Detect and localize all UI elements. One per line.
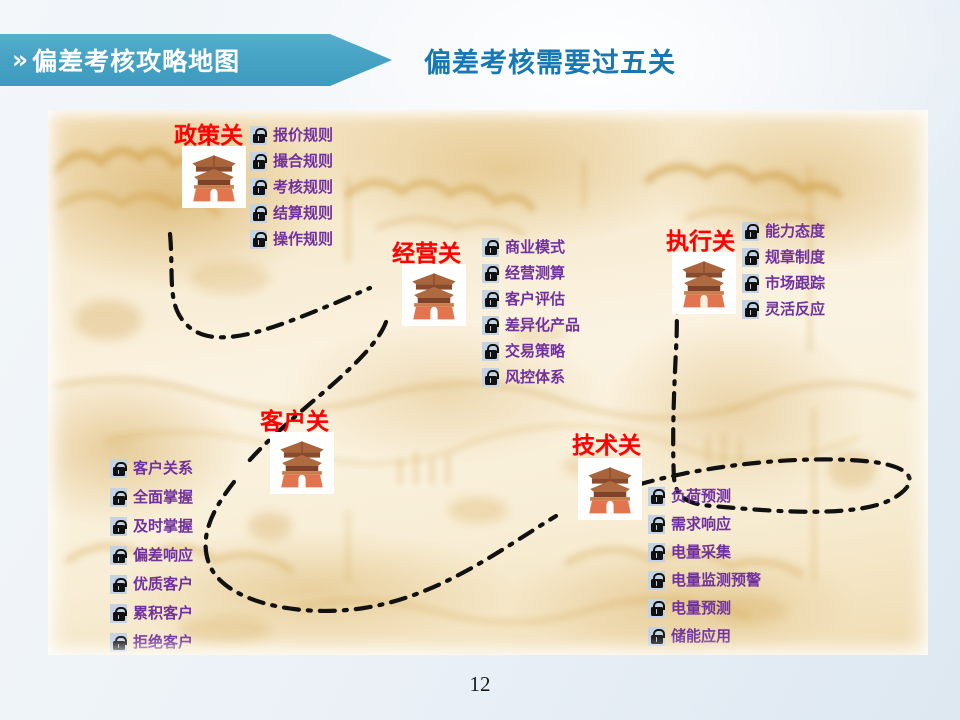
page-title: 偏差考核需要过五关 xyxy=(424,34,676,86)
gate-group-technology: 技术关 负荷预测 需求响应 xyxy=(528,426,808,655)
lock-icon xyxy=(482,342,499,361)
gate-item[interactable]: 报价规则 xyxy=(250,122,333,148)
gate-items-execution: 能力态度 规章制度 市场跟踪 灵活反应 xyxy=(742,218,825,322)
gate-item-label: 考核规则 xyxy=(273,180,333,195)
lock-icon xyxy=(742,274,759,293)
gate-item[interactable]: 规章制度 xyxy=(742,244,825,270)
lock-icon xyxy=(250,178,267,197)
gate-item[interactable]: 全面掌握 xyxy=(110,483,193,512)
gate-item[interactable]: 撮合规则 xyxy=(250,148,333,174)
gate-item-label: 风控体系 xyxy=(505,370,565,385)
lock-icon xyxy=(648,599,665,618)
lock-icon xyxy=(742,300,759,319)
gate-group-customer: 客户关 客户关系 全面掌握 xyxy=(110,398,370,646)
gate-item[interactable]: 客户评估 xyxy=(482,286,580,312)
gate-item-label: 客户关系 xyxy=(133,461,193,476)
gate-item-label: 电量预测 xyxy=(671,601,731,616)
gate-item-label: 交易策略 xyxy=(505,344,565,359)
lock-icon xyxy=(250,126,267,145)
gate-group-execution: 执行关 能力态度 规章制度 xyxy=(656,212,916,352)
gate-item[interactable]: 交易策略 xyxy=(482,338,580,364)
gate-item-label: 客户评估 xyxy=(505,292,565,307)
gate-item[interactable]: 优质客户 xyxy=(110,570,193,599)
chinese-gate-tower-icon xyxy=(182,146,246,208)
gate-item[interactable]: 灵活反应 xyxy=(742,296,825,322)
gate-item-label: 灵活反应 xyxy=(765,302,825,317)
lock-icon xyxy=(110,488,127,507)
gate-title-policy: 政策关 xyxy=(174,116,243,150)
gate-item-label: 结算规则 xyxy=(273,206,333,221)
page-number: 12 xyxy=(0,672,960,697)
lock-icon xyxy=(482,368,499,387)
gate-group-operation: 经营关 商业模式 经营测算 xyxy=(340,234,620,414)
gate-item[interactable]: 结算规则 xyxy=(250,200,333,226)
gate-item[interactable]: 需求响应 xyxy=(648,510,761,538)
gate-item[interactable]: 负荷预测 xyxy=(648,482,761,510)
gate-items-operation: 商业模式 经营测算 客户评估 差异化产品 交易策略 风控体系 xyxy=(482,234,580,390)
gate-item-label: 全面掌握 xyxy=(133,490,193,505)
lock-icon xyxy=(110,604,127,623)
gate-item[interactable]: 客户关系 xyxy=(110,454,193,483)
gate-item-label: 电量监测预警 xyxy=(671,573,761,588)
gate-title-operation: 经营关 xyxy=(392,234,461,268)
gate-title-customer: 客户关 xyxy=(260,402,329,436)
gate-item-label: 优质客户 xyxy=(133,577,193,592)
gate-item[interactable]: 商业模式 xyxy=(482,234,580,260)
gate-item-label: 累积客户 xyxy=(133,606,193,621)
lock-icon xyxy=(110,633,127,652)
lock-icon xyxy=(648,515,665,534)
lock-icon xyxy=(250,152,267,171)
gate-item[interactable]: 能力态度 xyxy=(742,218,825,244)
gate-items-policy: 报价规则 撮合规则 考核规则 结算规则 操作规则 xyxy=(250,122,333,252)
gate-item[interactable]: 考核规则 xyxy=(250,174,333,200)
gate-item[interactable]: 市场跟踪 xyxy=(742,270,825,296)
gate-item[interactable]: 电量监测预警 xyxy=(648,566,761,594)
gate-item-label: 撮合规则 xyxy=(273,154,333,169)
lock-icon xyxy=(482,316,499,335)
gate-item-label: 操作规则 xyxy=(273,232,333,247)
gate-items-customer: 客户关系 全面掌握 及时掌握 偏差响应 优质客户 累积客户 xyxy=(110,454,193,655)
gate-item[interactable]: 电量预测 xyxy=(648,594,761,622)
gate-item-label: 能力态度 xyxy=(765,224,825,239)
gate-item[interactable]: 拒绝客户 xyxy=(110,628,193,655)
gate-item-label: 负荷预测 xyxy=(671,489,731,504)
gate-item-label: 偏差响应 xyxy=(133,548,193,563)
gate-item-label: 商业模式 xyxy=(505,240,565,255)
lock-icon xyxy=(250,204,267,223)
lock-icon xyxy=(648,571,665,590)
gate-item[interactable]: 经营测算 xyxy=(482,260,580,286)
lock-icon xyxy=(250,230,267,249)
lock-icon xyxy=(482,290,499,309)
banner-title: 偏差考核攻略地图 xyxy=(32,42,240,78)
chinese-gate-tower-icon xyxy=(402,264,466,326)
lock-icon xyxy=(742,222,759,241)
gate-item-label: 及时掌握 xyxy=(133,519,193,534)
gate-item[interactable]: 操作规则 xyxy=(250,226,333,252)
lock-icon xyxy=(482,238,499,257)
gate-item-label: 需求响应 xyxy=(671,517,731,532)
gate-item[interactable]: 支撑工具 xyxy=(648,650,761,655)
gate-item[interactable]: 差异化产品 xyxy=(482,312,580,338)
gate-item-label: 拒绝客户 xyxy=(133,635,193,650)
gate-item-label: 规章制度 xyxy=(765,250,825,265)
gate-item-label: 差异化产品 xyxy=(505,318,580,333)
gate-item[interactable]: 累积客户 xyxy=(110,599,193,628)
chinese-gate-tower-icon xyxy=(270,432,334,494)
strategy-map-canvas: 政策关 报价规则 撮合规则 xyxy=(48,110,928,655)
gate-item[interactable]: 储能应用 xyxy=(648,622,761,650)
lock-icon xyxy=(482,264,499,283)
lock-icon xyxy=(110,575,127,594)
lock-icon xyxy=(648,655,665,656)
gate-item[interactable]: 风控体系 xyxy=(482,364,580,390)
gate-item[interactable]: 及时掌握 xyxy=(110,512,193,541)
chinese-gate-tower-icon xyxy=(578,458,642,520)
lock-icon xyxy=(110,546,127,565)
gate-item-label: 经营测算 xyxy=(505,266,565,281)
lock-icon xyxy=(648,543,665,562)
double-chevron-right-icon: » xyxy=(12,47,23,72)
slide-header: » 偏差考核攻略地图 偏差考核需要过五关 xyxy=(0,34,960,86)
lock-icon xyxy=(648,627,665,646)
gate-items-technology: 负荷预测 需求响应 电量采集 电量监测预警 电量预测 储能应用 xyxy=(648,482,761,655)
gate-item[interactable]: 电量采集 xyxy=(648,538,761,566)
gate-item-label: 市场跟踪 xyxy=(765,276,825,291)
lock-icon xyxy=(648,487,665,506)
gate-item-label: 储能应用 xyxy=(671,629,731,644)
lock-icon xyxy=(110,459,127,478)
gate-item[interactable]: 偏差响应 xyxy=(110,541,193,570)
lock-icon xyxy=(742,248,759,267)
lock-icon xyxy=(110,517,127,536)
gate-item-label: 电量采集 xyxy=(671,545,731,560)
gate-title-technology: 技术关 xyxy=(572,426,641,460)
gate-title-execution: 执行关 xyxy=(666,222,735,256)
header-banner: » 偏差考核攻略地图 xyxy=(0,34,392,86)
gate-item-label: 报价规则 xyxy=(273,128,333,143)
chinese-gate-tower-icon xyxy=(672,252,736,314)
